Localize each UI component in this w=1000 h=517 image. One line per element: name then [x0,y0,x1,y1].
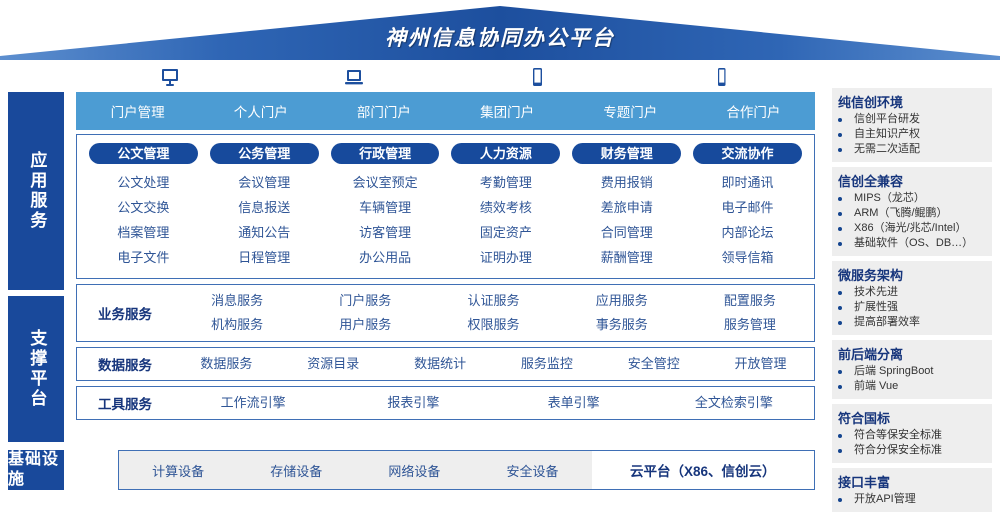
infrastructure-cloud-platform[interactable]: 云平台（X86、信创云） [592,451,814,489]
module-item[interactable]: 薪酬管理 [566,245,687,270]
support-panel-title: 工具服务 [77,393,173,413]
feature-item: 后端 SpringBoot [838,364,986,379]
feature-item: 自主知识产权 [838,127,986,142]
feature-item: 技术先进 [838,285,986,300]
module-title[interactable]: 公文管理 [89,143,198,164]
module-item[interactable]: 差旅申请 [566,195,687,220]
module-item[interactable]: 电子邮件 [687,195,808,220]
support-item[interactable]: 数据统计 [387,352,494,376]
module-item[interactable]: 公文处理 [83,170,204,195]
feature-section-title: 前后端分离 [838,344,986,363]
sidebar-item-application-services[interactable]: 应用服务 [8,92,64,290]
support-item[interactable]: 权限服务 [429,313,557,337]
feature-item: 基础软件（OS、DB…） [838,236,986,251]
module-item[interactable]: 办公用品 [325,245,446,270]
bullet-icon [838,197,842,201]
module-item[interactable]: 访客管理 [325,220,446,245]
support-item[interactable]: 数据服务 [173,352,280,376]
sidebar-item-label: 应用服务 [26,151,47,231]
bullet-icon [838,148,842,152]
support-item[interactable]: 消息服务 [173,289,301,313]
bullet-icon [838,227,842,231]
module-title[interactable]: 行政管理 [331,143,440,164]
infrastructure-item[interactable]: 网络设备 [355,461,473,480]
sidebar-item-label: 支撑平台 [26,329,47,409]
feature-section-title: 接口丰富 [838,472,986,491]
module-item[interactable]: 公文交换 [83,195,204,220]
portal-item[interactable]: 专题门户 [569,101,692,121]
bullet-icon [838,133,842,137]
feature-item: 前端 Vue [838,379,986,394]
support-row: 数据服务 资源目录 数据统计 服务监控 安全管控 开放管理 [173,352,814,376]
module-item[interactable]: 固定资产 [445,220,566,245]
bullet-icon [838,242,842,246]
module-item[interactable]: 会议管理 [204,170,325,195]
module-item[interactable]: 领导信箱 [687,245,808,270]
title-banner: 神州信息协同办公平台 [0,0,1000,62]
support-item[interactable]: 事务服务 [558,313,686,337]
infrastructure-item[interactable]: 存储设备 [237,461,355,480]
support-item[interactable]: 机构服务 [173,313,301,337]
tablet-icon [446,62,630,92]
portal-item[interactable]: 合作门户 [692,101,815,121]
bullet-icon [838,434,842,438]
support-row: 消息服务 门户服务 认证服务 应用服务 配置服务 [173,289,814,313]
main-column: 门户管理 个人门户 部门门户 集团门户 专题门户 合作门户 公文管理 公文处理 … [76,92,815,420]
feature-section-title: 信创全兼容 [838,171,986,190]
portal-bar: 门户管理 个人门户 部门门户 集团门户 专题门户 合作门户 [76,92,815,130]
feature-item: MIPS（龙芯） [838,191,986,206]
module-title[interactable]: 财务管理 [572,143,681,164]
laptop-icon [262,62,446,92]
support-panel-data-services: 数据服务 数据服务 资源目录 数据统计 服务监控 安全管控 开放管理 [76,347,815,381]
bullet-icon [838,291,842,295]
feature-item: 信创平台研发 [838,112,986,127]
module-item[interactable]: 档案管理 [83,220,204,245]
infrastructure-item[interactable]: 计算设备 [119,461,237,480]
bullet-icon [838,498,842,502]
module-column: 财务管理 费用报销 差旅申请 合同管理 薪酬管理 [566,143,687,270]
support-item[interactable]: 服务管理 [686,313,814,337]
portal-item[interactable]: 个人门户 [199,101,322,121]
bullet-icon [838,306,842,310]
feature-item: 符合分保安全标准 [838,443,986,458]
module-column: 公文管理 公文处理 公文交换 档案管理 电子文件 [83,143,204,270]
module-item[interactable]: 通知公告 [204,220,325,245]
support-panel-body: 工作流引擎 报表引擎 表单引擎 全文检索引擎 [173,391,814,415]
sidebar-item-label: 基础设施 [8,450,64,489]
support-panel-business-services: 业务服务 消息服务 门户服务 认证服务 应用服务 配置服务 机构服务 用户服务 … [76,284,815,342]
portal-item[interactable]: 集团门户 [446,101,569,121]
support-item[interactable]: 应用服务 [558,289,686,313]
bullet-icon [838,212,842,216]
module-item[interactable]: 证明办理 [445,245,566,270]
feature-item: 符合等保安全标准 [838,428,986,443]
module-item[interactable]: 即时通讯 [687,170,808,195]
module-item[interactable]: 会议室预定 [325,170,446,195]
portal-item[interactable]: 部门门户 [322,101,445,121]
module-item[interactable]: 日程管理 [204,245,325,270]
feature-section-title: 符合国标 [838,408,986,427]
module-item[interactable]: 信息报送 [204,195,325,220]
feature-section-full-compatibility: 信创全兼容 MIPS（龙芯） ARM（飞腾/鲲鹏） X86（海光/兆芯/Inte… [832,167,992,256]
module-title[interactable]: 人力资源 [451,143,560,164]
module-title[interactable]: 交流协作 [693,143,802,164]
module-column: 交流协作 即时通讯 电子邮件 内部论坛 领导信箱 [687,143,808,270]
support-item[interactable]: 全文检索引擎 [654,391,814,415]
module-item[interactable]: 车辆管理 [325,195,446,220]
feature-section-national-standards: 符合国标 符合等保安全标准 符合分保安全标准 [832,404,992,463]
feature-item: ARM（飞腾/鲲鹏） [838,206,986,221]
feature-item: 提高部署效率 [838,315,986,330]
module-title[interactable]: 公务管理 [210,143,319,164]
module-item[interactable]: 内部论坛 [687,220,808,245]
support-item[interactable]: 配置服务 [686,289,814,313]
module-item[interactable]: 合同管理 [566,220,687,245]
phone-icon [629,62,813,92]
module-item[interactable]: 电子文件 [83,245,204,270]
infrastructure-devices: 计算设备 存储设备 网络设备 安全设备 [119,451,592,489]
feature-item: X86（海光/兆芯/Intel） [838,221,986,236]
feature-section-frontend-backend-separation: 前后端分离 后端 SpringBoot 前端 Vue [832,340,992,399]
bullet-icon [838,321,842,325]
module-item[interactable]: 绩效考核 [445,195,566,220]
feature-section-pure-xinchuang: 纯信创环境 信创平台研发 自主知识产权 无需二次适配 [832,88,992,162]
feature-section-title: 纯信创环境 [838,92,986,111]
infrastructure-item[interactable]: 安全设备 [473,461,591,480]
sidebar-item-support-platform[interactable]: 支撑平台 [8,296,64,442]
feature-item: 扩展性强 [838,300,986,315]
infrastructure-panel: 计算设备 存储设备 网络设备 安全设备 云平台（X86、信创云） [118,450,815,490]
support-item[interactable]: 认证服务 [429,289,557,313]
sidebar-item-infrastructure[interactable]: 基础设施 [8,450,64,490]
support-panel-tool-services: 工具服务 工作流引擎 报表引擎 表单引擎 全文检索引擎 [76,386,815,420]
module-grid: 公文管理 公文处理 公文交换 档案管理 电子文件 公务管理 会议管理 信息报送 … [83,143,808,270]
feature-section-rich-interfaces: 接口丰富 开放API管理 [832,468,992,512]
feature-section-title: 微服务架构 [838,265,986,284]
support-item[interactable]: 表单引擎 [494,391,654,415]
bullet-icon [838,449,842,453]
support-row: 机构服务 用户服务 权限服务 事务服务 服务管理 [173,313,814,337]
support-item[interactable]: 门户服务 [301,289,429,313]
page-title: 神州信息协同办公平台 [0,22,1000,52]
support-panel-title: 数据服务 [77,354,173,374]
support-item[interactable]: 安全管控 [600,352,707,376]
module-column: 公务管理 会议管理 信息报送 通知公告 日程管理 [204,143,325,270]
support-row: 工作流引擎 报表引擎 表单引擎 全文检索引擎 [173,391,814,415]
feature-item: 无需二次适配 [838,142,986,157]
feature-section-microservice: 微服务架构 技术先进 扩展性强 提高部署效率 [832,261,992,335]
application-services-panel: 公文管理 公文处理 公文交换 档案管理 电子文件 公务管理 会议管理 信息报送 … [76,134,815,279]
module-item[interactable]: 考勤管理 [445,170,566,195]
features-sidebar: 纯信创环境 信创平台研发 自主知识产权 无需二次适配 信创全兼容 MIPS（龙芯… [832,88,992,517]
bullet-icon [838,385,842,389]
support-panel-body: 数据服务 资源目录 数据统计 服务监控 安全管控 开放管理 [173,352,814,376]
module-column: 人力资源 考勤管理 绩效考核 固定资产 证明办理 [445,143,566,270]
support-item[interactable]: 资源目录 [280,352,387,376]
support-item[interactable]: 服务监控 [493,352,600,376]
support-item[interactable]: 报表引擎 [333,391,493,415]
module-column: 行政管理 会议室预定 车辆管理 访客管理 办公用品 [325,143,446,270]
support-item[interactable]: 开放管理 [707,352,814,376]
portal-item[interactable]: 门户管理 [76,101,199,121]
support-item[interactable]: 用户服务 [301,313,429,337]
support-item[interactable]: 工作流引擎 [173,391,333,415]
module-item[interactable]: 费用报销 [566,170,687,195]
support-panel-title: 业务服务 [77,303,173,323]
device-icon-row [78,62,813,92]
bullet-icon [838,370,842,374]
desktop-icon [78,62,262,92]
support-panel-body: 消息服务 门户服务 认证服务 应用服务 配置服务 机构服务 用户服务 权限服务 … [173,289,814,337]
bullet-icon [838,118,842,122]
